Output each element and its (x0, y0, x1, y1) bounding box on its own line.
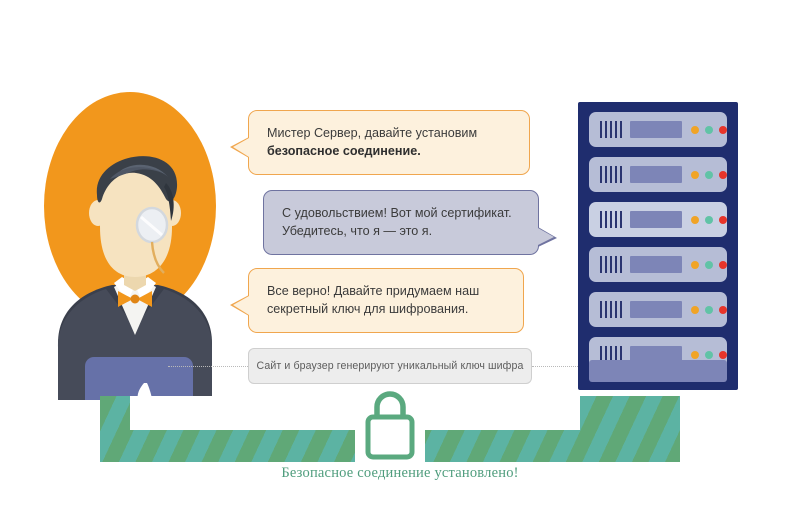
drive-bay (630, 166, 682, 183)
server-blank-panel (589, 360, 727, 382)
bubble-2-line-1: С удовольствием! Вот мой сертификат. (282, 204, 520, 222)
server-unit-1 (589, 112, 727, 147)
vent-stripes-icon (600, 211, 622, 228)
status-leds (691, 171, 727, 179)
status-leds (691, 216, 727, 224)
client-illustration (40, 95, 230, 400)
bubble-tail-fill-icon (233, 138, 249, 157)
drive-bay (630, 121, 682, 138)
status-leds (691, 261, 727, 269)
bubble-tail-fill-icon (233, 296, 249, 315)
key-generation-label: Сайт и браузер генерируют уникальный клю… (257, 360, 524, 372)
vent-stripes-icon (600, 121, 622, 138)
bubble-tail-fill-icon (538, 228, 554, 245)
infographic-stage: Мистер Сервер, давайте установим безопас… (0, 0, 800, 523)
secure-connection-caption: Безопасное соединение установлено! (0, 465, 800, 482)
key-connector-left (168, 366, 248, 367)
server-unit-2 (589, 157, 727, 192)
padlock-holder (355, 385, 425, 463)
vent-stripes-icon (600, 301, 622, 318)
server-unit-3 (589, 202, 727, 237)
status-leds (691, 126, 727, 134)
bubble-3-line-2: секретный ключ для шифрования. (267, 300, 505, 318)
drive-bay (630, 211, 682, 228)
client-character (40, 95, 230, 400)
padlock-icon (355, 385, 425, 463)
key-connector-right (532, 366, 578, 367)
speech-bubble-server-1: С удовольствием! Вот мой сертификат. Убе… (263, 190, 539, 255)
drive-bay (630, 301, 682, 318)
bubble-3-line-1: Все верно! Давайте придумаем наш (267, 282, 505, 300)
server-unit-4 (589, 247, 727, 282)
vent-stripes-icon (600, 166, 622, 183)
server-rack (578, 102, 738, 390)
status-leds (691, 351, 727, 359)
server-unit-5 (589, 292, 727, 327)
speech-bubble-client-2: Все верно! Давайте придумаем наш секретн… (248, 268, 524, 333)
bubble-1-line-2: безопасное соединение. (267, 144, 421, 158)
drive-bay (630, 256, 682, 273)
laptop-icon (85, 357, 193, 400)
vent-stripes-icon (600, 256, 622, 273)
speech-bubble-client-1: Мистер Сервер, давайте установим безопас… (248, 110, 530, 175)
bubble-1-line-1: Мистер Сервер, давайте установим (267, 124, 511, 142)
bubble-2-line-2: Убедитесь, что я — это я. (282, 222, 520, 240)
status-leds (691, 306, 727, 314)
key-generation-box: Сайт и браузер генерируют уникальный клю… (248, 348, 532, 384)
